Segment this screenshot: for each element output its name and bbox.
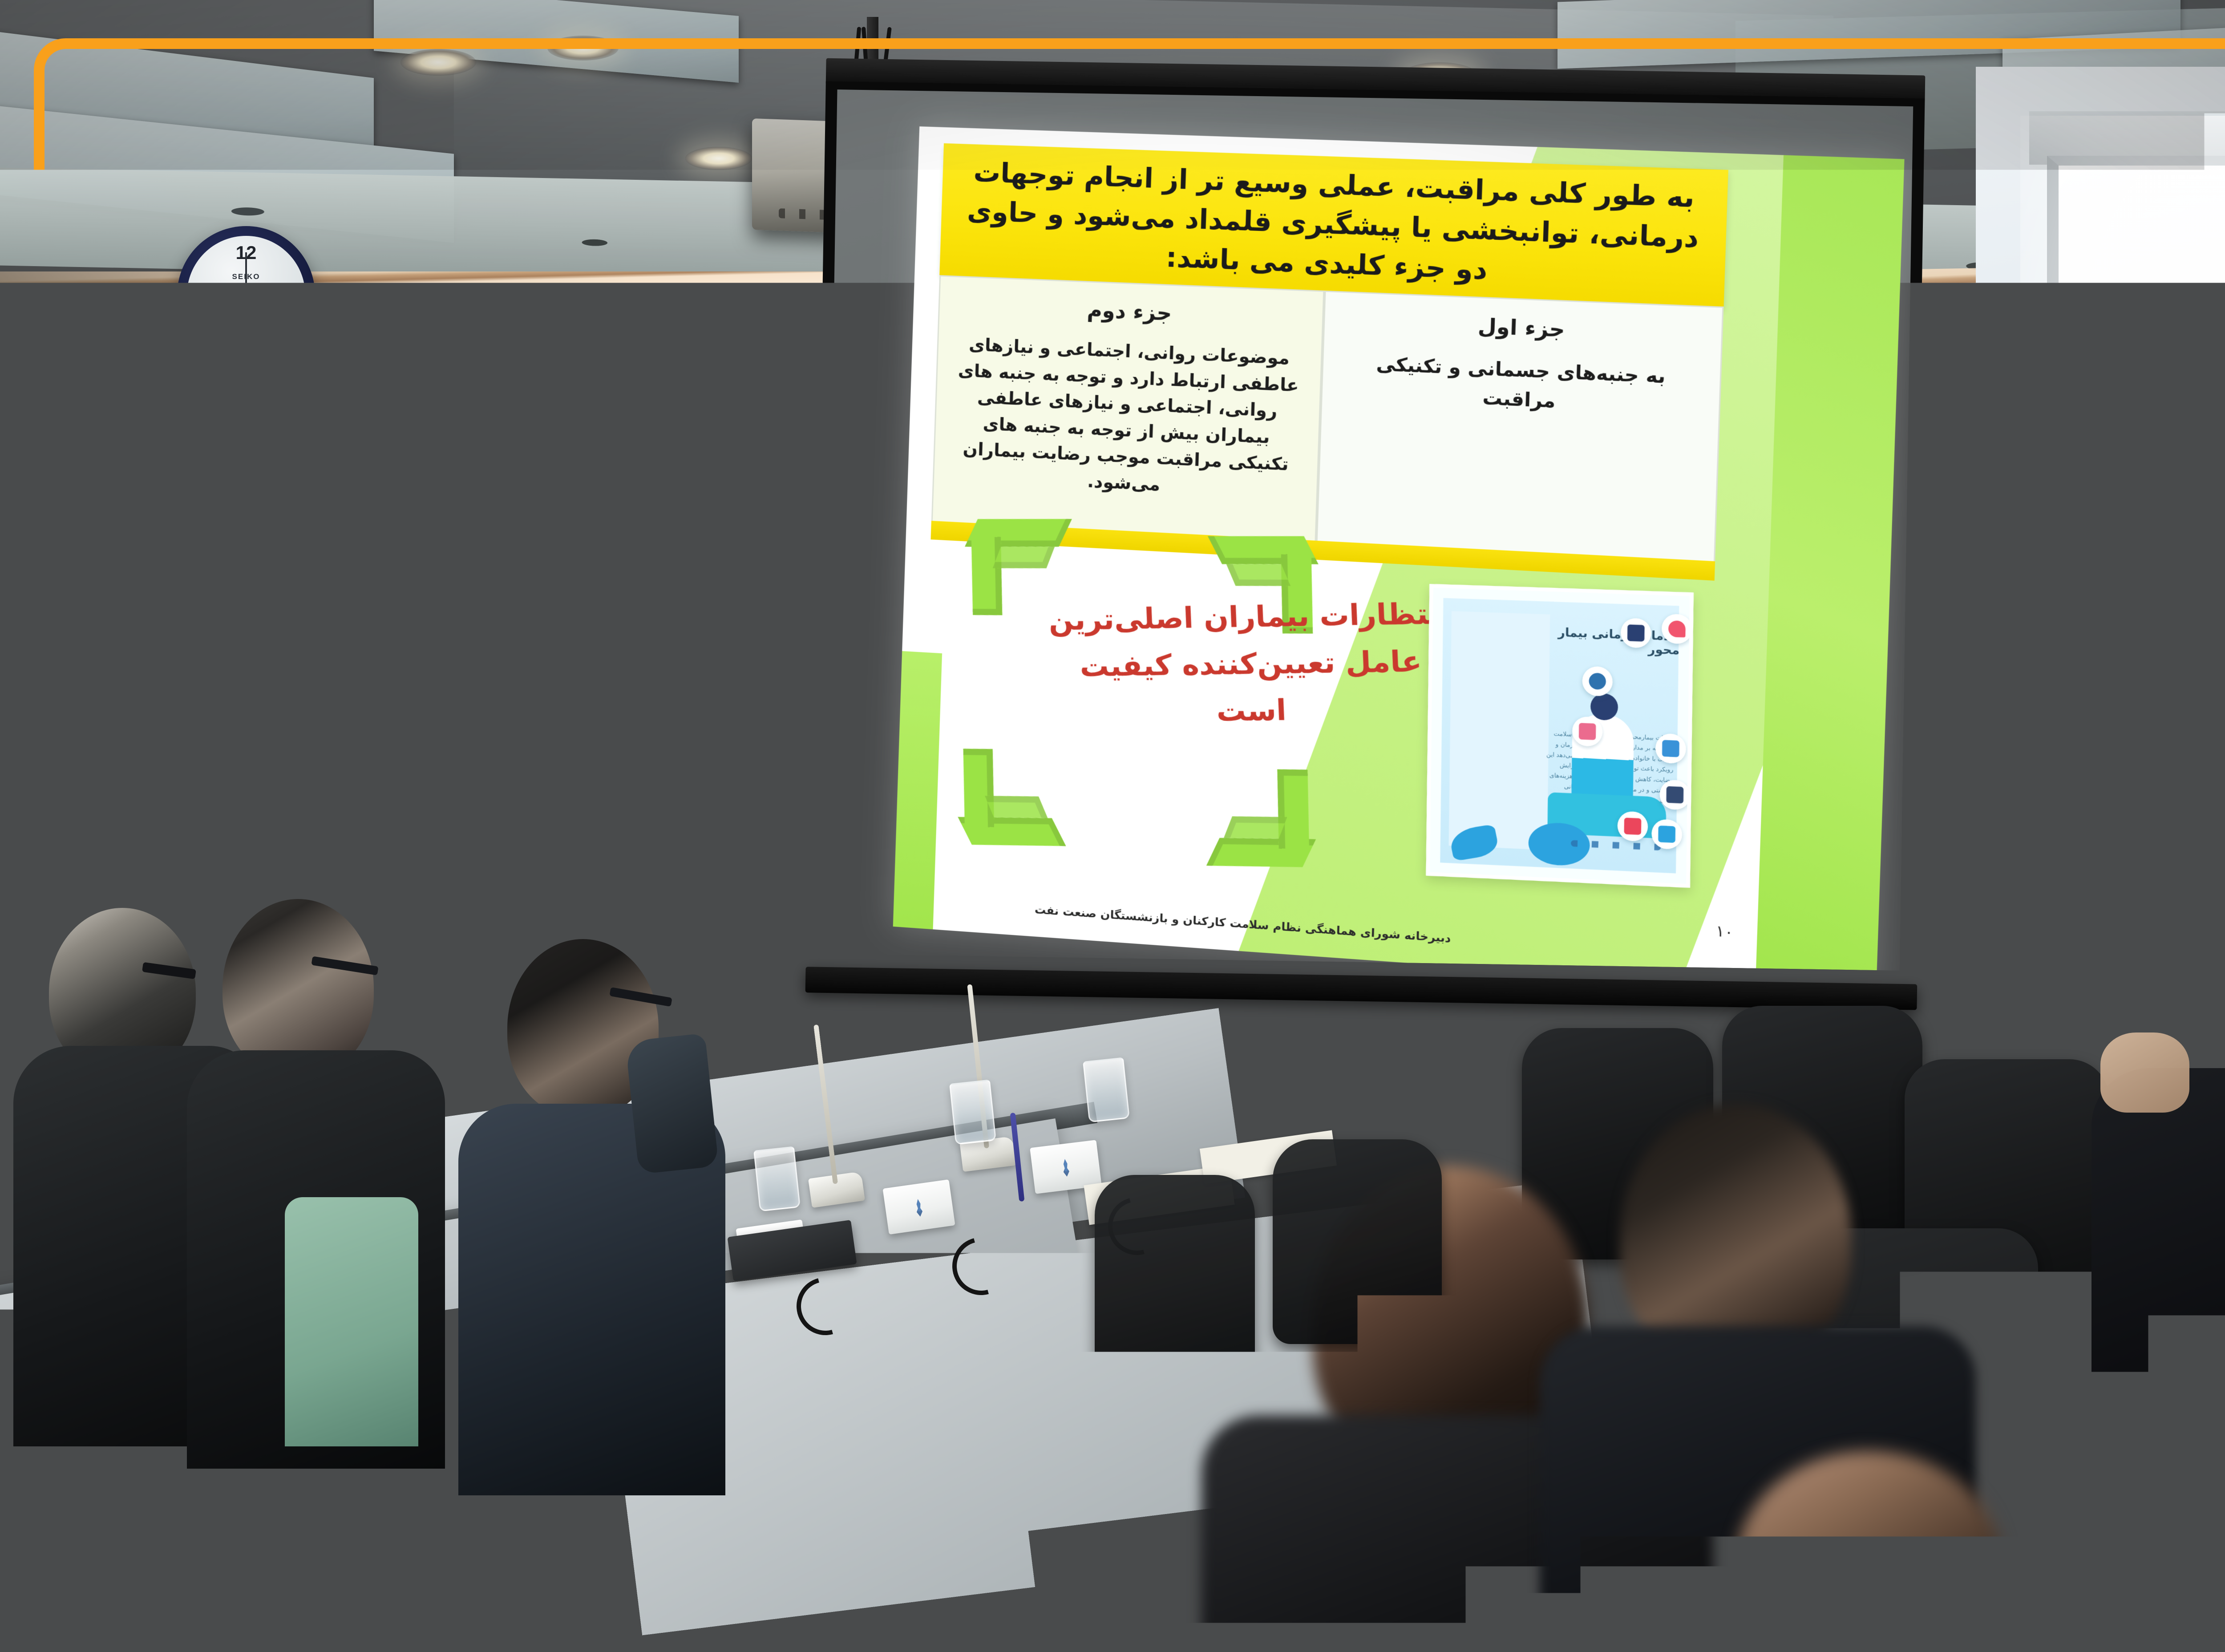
conference-room: 12 3 6 9 SEIKO [0, 0, 2225, 1652]
clock-minute-hand [246, 293, 292, 297]
water-glass [753, 1146, 801, 1212]
clock-numeral: 6 [241, 329, 251, 349]
photographer-name: Mahdi salahinejad [0, 1482, 303, 1558]
screen-body: به طور کلی مراقبت، عملی وسیع تر از انجام… [812, 81, 1925, 984]
column-body: موضوعات روانی، اجتماعی و نیازهای عاطفی ا… [951, 332, 1303, 505]
photographer-name-bar: Mahdi salahinejad [0, 1482, 303, 1558]
projection-screen: به طور کلی مراقبت، عملی وسیع تر از انجام… [812, 58, 1926, 1010]
clock-numeral: 9 [195, 283, 205, 303]
attendee-shirt [285, 1197, 418, 1446]
slide-column-second: جزء دوم موضوعات روانی، اجتماعی و نیازهای… [931, 275, 1325, 543]
ceiling-downlight [547, 36, 619, 61]
wall-pillar [191, 285, 217, 979]
water-glass [1083, 1057, 1130, 1123]
green-bracket-icon [1211, 771, 1310, 867]
clock-center-pin [243, 292, 250, 299]
infographic-text-panel [1449, 611, 1550, 850]
water-glass-foreground [866, 1518, 980, 1652]
column-body: به جنبه‌های جسمانی و تکنیکی مراقبت [1340, 348, 1701, 422]
infographic-title: خدمات درمانی بیمار محور [1537, 625, 1680, 657]
water-glass [949, 1080, 996, 1145]
column-title: جزء اول [1343, 308, 1703, 348]
projected-slide: به طور کلی مراقبت، عملی وسیع تر از انجام… [893, 126, 1905, 971]
screenshot-root: 12 3 6 9 SEIKO [0, 0, 2225, 1652]
column-title: جزء دوم [957, 292, 1304, 331]
wall-clock: 12 3 6 9 SEIKO [177, 226, 315, 364]
attendee-hand [625, 1033, 719, 1174]
clock-hour-hand [211, 293, 246, 297]
office-chair [1095, 1175, 1255, 1371]
slide-column-first: جزء اول به جنبه‌های جسمانی و تکنیکی مراق… [1316, 291, 1724, 563]
clock-second-hand [245, 252, 247, 295]
ceiling-downlight [400, 49, 476, 76]
slide-number: ۱۰ [1715, 922, 1734, 941]
slide-header-text: به طور کلی مراقبت، عملی وسیع تر از انجام… [960, 153, 1706, 299]
attendee-hands [2100, 1032, 2189, 1113]
office-chair [1273, 1139, 1442, 1344]
piho-site-label: piho.ir [61, 1430, 206, 1478]
slide-quote-text: انتظارات بیماران اصلی‌ترین عامل تعیین‌کن… [1047, 591, 1456, 737]
ceiling-downlight [685, 147, 752, 170]
piho-watermark-badge: piho.ir [0, 1255, 267, 1513]
tissue-box [882, 1179, 955, 1235]
nioc-flame-logo-icon [65, 1291, 202, 1433]
slide-infographic: خدمات درمانی بیمار محور خدمات بیمارمحور … [1426, 584, 1693, 888]
clock-numeral: 3 [287, 283, 297, 303]
screen-surface: به طور کلی مراقبت، عملی وسیع تر از انجام… [824, 89, 1913, 971]
green-bracket-icon [963, 751, 1060, 846]
